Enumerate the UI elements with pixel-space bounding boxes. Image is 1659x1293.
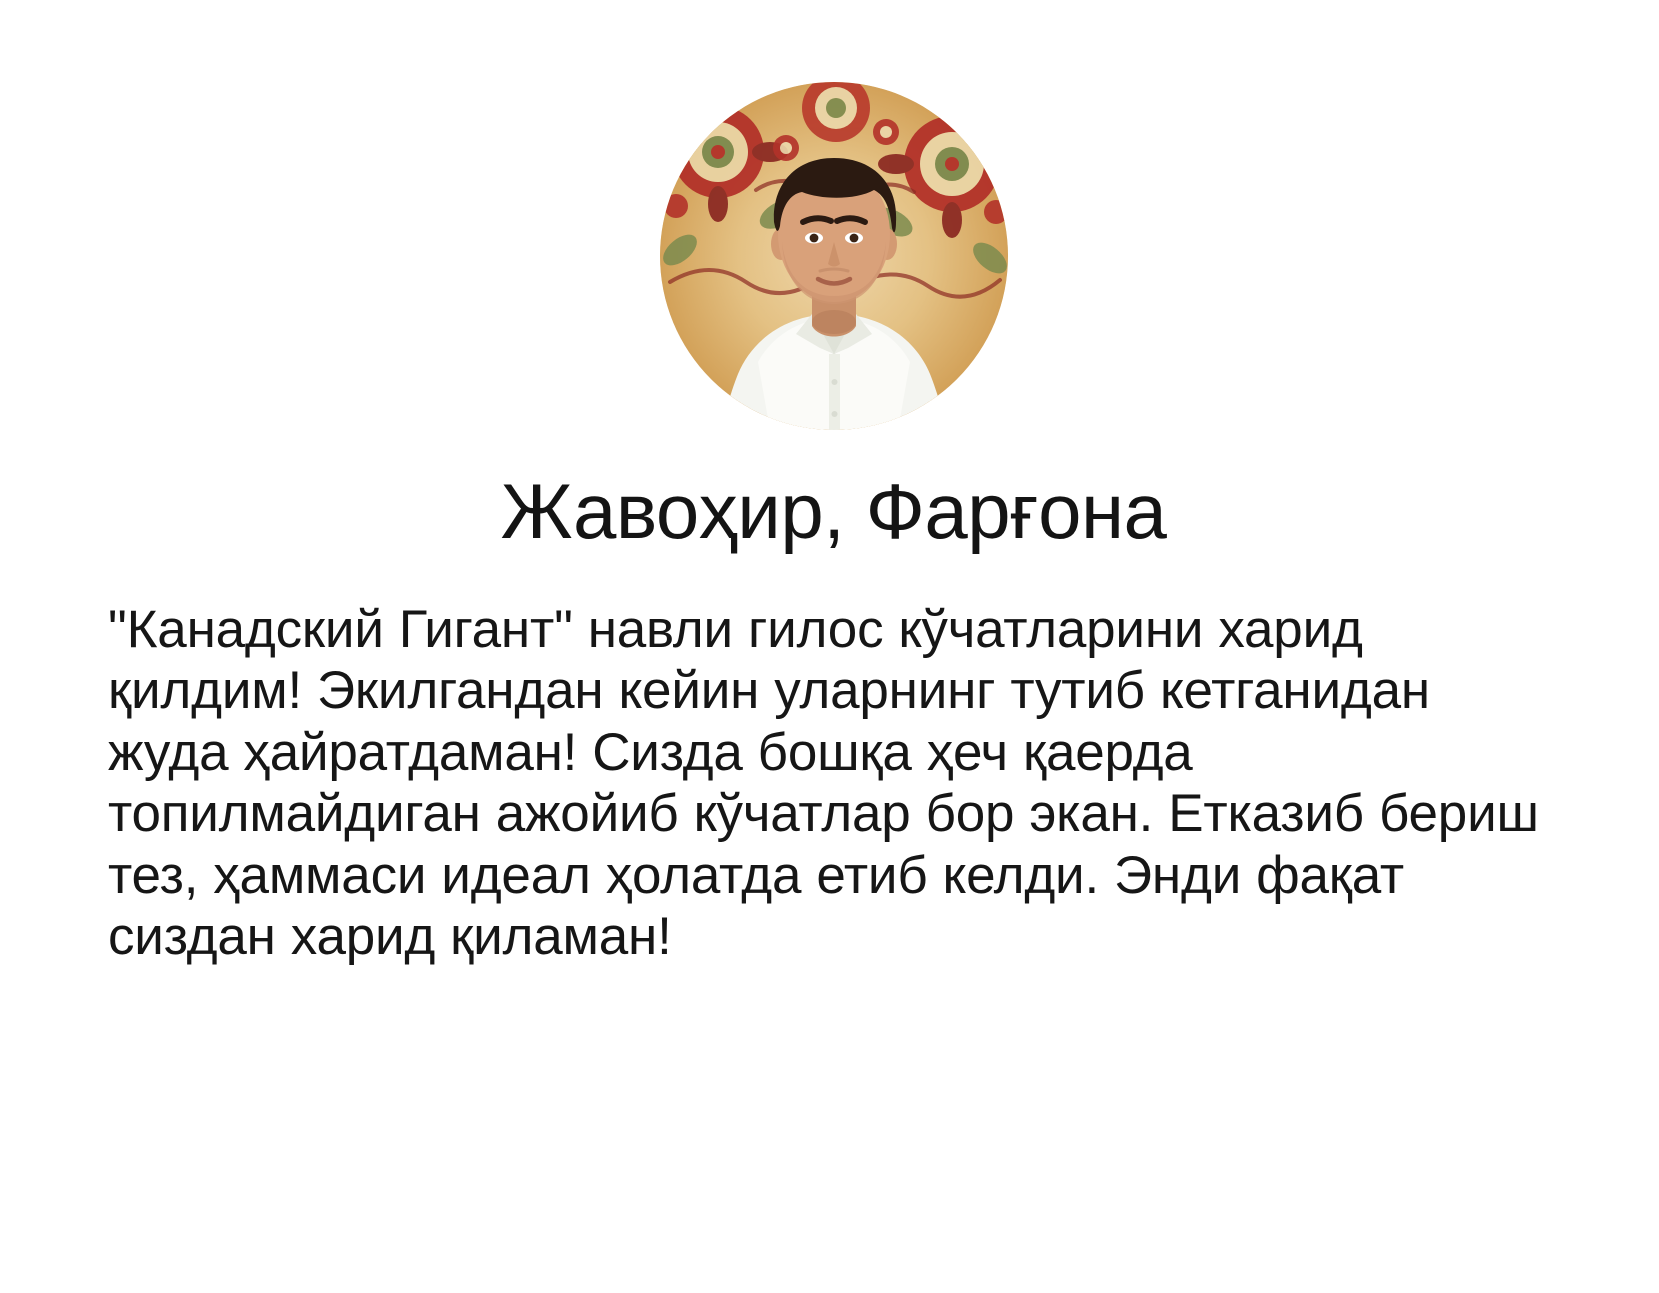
- reviewer-name: Жавоҳир, Фарғона: [108, 470, 1559, 553]
- review-text: "Канадский Гигант" навли гилос кўчатлари…: [108, 599, 1559, 968]
- testimonial-card: Жавоҳир, Фарғона "Канадский Гигант" навл…: [0, 0, 1659, 1293]
- avatar: [660, 82, 1008, 430]
- avatar-portrait-image: [660, 82, 1008, 430]
- avatar-container: [108, 82, 1559, 430]
